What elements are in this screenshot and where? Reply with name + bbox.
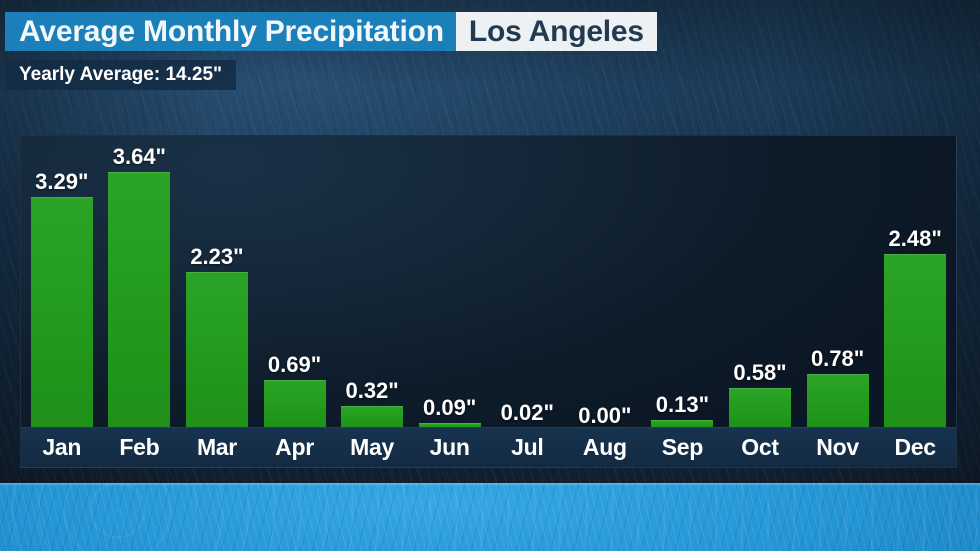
axis-label-aug: Aug [566, 428, 644, 467]
bar-slot[interactable]: 0.58" [721, 136, 799, 429]
axis-label-dec: Dec [876, 428, 954, 467]
bar-value-label: 3.64" [113, 145, 166, 169]
bar-slot[interactable]: 2.48" [876, 136, 954, 429]
axis-label-may: May [333, 428, 411, 467]
axis-label-nov: Nov [799, 428, 877, 467]
bar-value-label: 2.23" [190, 245, 243, 269]
location-label: Los Angeles [456, 12, 657, 51]
bar-fill[interactable] [729, 388, 791, 429]
weather-graphic: Average Monthly Precipitation Los Angele… [0, 0, 980, 551]
yearly-average-banner: Yearly Average: 14.25" [5, 60, 236, 90]
bar-value-label: 0.13" [656, 393, 709, 417]
bar-fill[interactable] [186, 272, 248, 429]
bar-value-label: 0.58" [733, 361, 786, 385]
axis-label-feb: Feb [101, 428, 179, 467]
axis-label-jan: Jan [23, 428, 101, 467]
bar-slot[interactable]: 0.78" [799, 136, 877, 429]
water-band-background [0, 483, 980, 551]
water-ripple-texture [0, 483, 980, 551]
bar-value-label: 0.09" [423, 396, 476, 420]
bar-fill[interactable] [108, 172, 170, 429]
bar-series: 3.29"3.64"2.23"0.69"0.32"0.09"0.02"0.00"… [23, 136, 954, 429]
bar-value-label: 0.32" [345, 379, 398, 403]
bar-slot[interactable]: 0.32" [333, 136, 411, 429]
bar-value-label: 0.00" [578, 404, 631, 428]
axis-label-oct: Oct [721, 428, 799, 467]
bar-value-label: 0.69" [268, 353, 321, 377]
yearly-average-text: Yearly Average: 14.25" [19, 60, 222, 90]
bar-slot[interactable]: 0.02" [488, 136, 566, 429]
water-band-highlight [0, 483, 980, 486]
x-axis-month-labels: JanFebMarAprMayJunJulAugSepOctNovDec [21, 427, 956, 467]
bar-slot[interactable]: 0.13" [644, 136, 722, 429]
axis-label-apr: Apr [256, 428, 334, 467]
bar-value-label: 0.78" [811, 347, 864, 371]
axis-label-jun: Jun [411, 428, 489, 467]
bar-value-label: 2.48" [889, 227, 942, 251]
axis-label-mar: Mar [178, 428, 256, 467]
title-banner: Average Monthly Precipitation Los Angele… [5, 12, 657, 51]
page-title: Average Monthly Precipitation [5, 12, 456, 51]
bar-fill[interactable] [884, 254, 946, 429]
bar-slot[interactable]: 0.09" [411, 136, 489, 429]
bar-fill[interactable] [341, 406, 403, 429]
bar-slot[interactable]: 3.29" [23, 136, 101, 429]
bar-slot[interactable]: 2.23" [178, 136, 256, 429]
bar-value-label: 3.29" [35, 170, 88, 194]
precipitation-chart-panel: 3.29"3.64"2.23"0.69"0.32"0.09"0.02"0.00"… [20, 135, 957, 468]
bar-slot[interactable]: 0.69" [256, 136, 334, 429]
bar-slot[interactable]: 0.00" [566, 136, 644, 429]
bar-fill[interactable] [264, 380, 326, 429]
bar-slot[interactable]: 3.64" [101, 136, 179, 429]
bar-fill[interactable] [807, 374, 869, 429]
axis-label-sep: Sep [644, 428, 722, 467]
chart-plot-area: 3.29"3.64"2.23"0.69"0.32"0.09"0.02"0.00"… [21, 136, 956, 429]
bar-value-label: 0.02" [501, 401, 554, 425]
bar-fill[interactable] [31, 197, 93, 429]
axis-label-jul: Jul [488, 428, 566, 467]
